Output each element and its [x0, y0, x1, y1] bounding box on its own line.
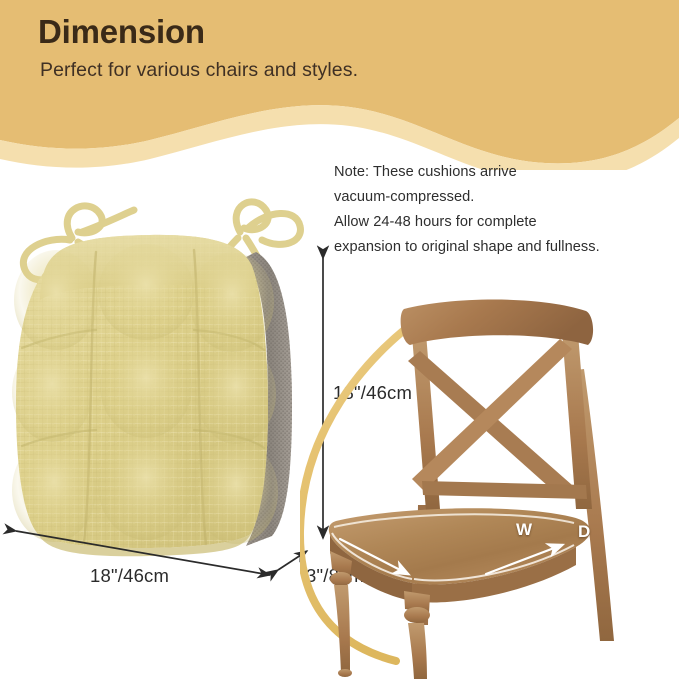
chair-top-rail	[401, 300, 593, 346]
width-dimension-label: 18"/46cm	[90, 565, 169, 587]
seat-width-label: W	[516, 520, 532, 540]
chair-front-leg-center	[404, 591, 430, 679]
chair-graphic	[300, 295, 679, 679]
seat-depth-label: D	[578, 522, 590, 542]
chair-illustration	[300, 295, 679, 679]
chair-front-leg-left	[330, 551, 352, 677]
infographic-page: Dimension Perfect for various chairs and…	[0, 0, 679, 679]
